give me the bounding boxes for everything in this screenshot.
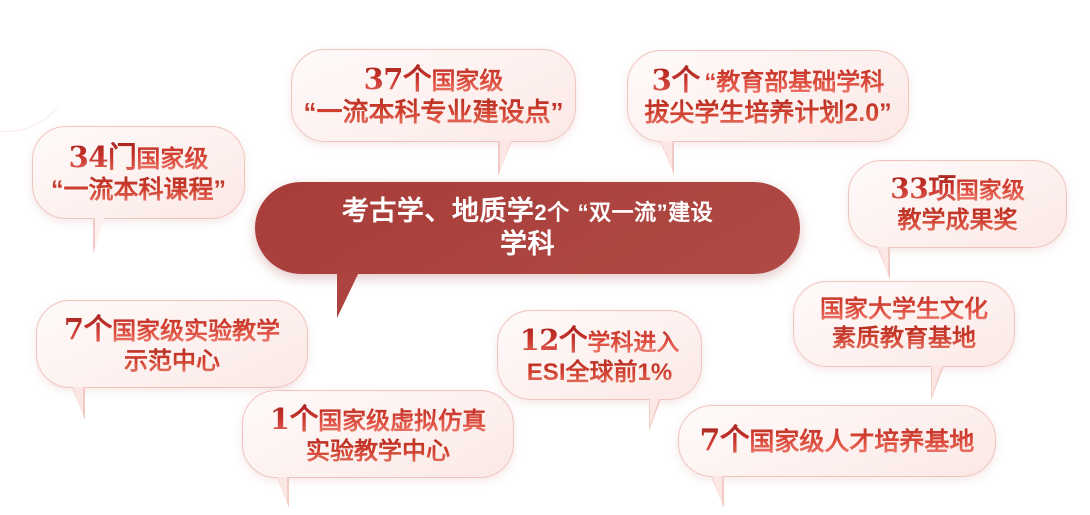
callout-national-first-class-major[interactable]: 37个国家级 “一流本科专业建设点” (291, 49, 576, 142)
callout-line2: “一流本科专业建设点” (304, 97, 564, 127)
callout-virtual-simulation-center[interactable]: 1个国家级虚拟仿真 实验教学中心 (242, 390, 514, 478)
callout-number: 12个 (520, 323, 588, 357)
callout-tail-inner-national-experimental-teaching-center (73, 387, 83, 415)
center-text: 考古学、地质学2个 “双一流”建设 学科 (342, 195, 713, 261)
callout-line2: ESI全球前1% (527, 359, 672, 386)
callout-tail-inner-national-first-class-course (95, 218, 104, 249)
callout-number: 1个 (270, 402, 318, 436)
callout-line2: “一流本科课程” (51, 176, 226, 204)
callout-number: 33项 (890, 172, 955, 205)
callout-label: 国家级人才培养基地 (749, 428, 974, 456)
callout-line2: 实验教学中心 (306, 438, 450, 465)
callout-tail-inner-national-culture-quality-base (932, 366, 942, 395)
callout-label: 国家大学生文化 (820, 296, 988, 323)
callout-line2: 示范中心 (124, 348, 220, 375)
callout-tail-inner-national-talent-base (712, 476, 722, 503)
center-line1-c: “双一流”建设 (578, 200, 714, 225)
center-highlight-bubble[interactable]: 考古学、地质学2个 “双一流”建设 学科 (255, 182, 800, 274)
callout-national-talent-base[interactable]: 7个国家级人才培养基地 (678, 405, 996, 477)
callout-moe-top-student-plan[interactable]: 3个 “教育部基础学科 拔尖学生培养计划2.0” (627, 50, 909, 142)
callout-tail-inner-moe-top-student-plan (661, 141, 672, 170)
callout-line2: 素质教育基地 (832, 325, 976, 352)
callout-text: 37个国家级 “一流本科专业建设点” (304, 62, 564, 129)
callout-text: 7个国家级实验教学 示范中心 (64, 312, 280, 377)
callout-text: 34门国家级 “一流本科课程” (51, 140, 226, 206)
center-bubble-tail (337, 272, 359, 318)
callout-line2: 拔尖学生培养计划2.0” (644, 99, 891, 127)
callout-tail-inner-virtual-simulation-center (278, 477, 287, 503)
callout-number: 37个 (364, 62, 432, 96)
callout-number: 7个 (64, 312, 112, 346)
callout-tail-inner-national-first-class-major (500, 141, 511, 171)
callout-label: “教育部基础学科 (704, 69, 884, 96)
callout-label: 国家级实验教学 (112, 318, 280, 345)
callout-number: 3个 (652, 63, 700, 97)
callout-national-first-class-course[interactable]: 34门国家级 “一流本科课程” (32, 126, 245, 219)
center-line1-a: 考古学、地质学 (342, 196, 535, 226)
callout-number: 7个 (700, 423, 750, 458)
callout-esi-top-one-percent[interactable]: 12个学科进入 ESI全球前1% (497, 310, 702, 400)
infographic-canvas: 34门国家级 “一流本科课程” 37个国家级 “一流本科专业建设点” 3个 “教… (0, 0, 1090, 515)
center-line2: 学科 (500, 229, 555, 259)
callout-text: 12个学科进入 ESI全球前1% (520, 323, 680, 388)
callout-text: 1个国家级虚拟仿真 实验教学中心 (270, 402, 486, 467)
callout-national-culture-quality-base[interactable]: 国家大学生文化 素质教育基地 (793, 281, 1015, 367)
callout-text: 国家大学生文化 素质教育基地 (820, 295, 988, 354)
decorative-arc-right (1005, 0, 1090, 117)
callout-label: 国家级 (431, 68, 503, 95)
callout-line2: 教学成果奖 (898, 207, 1018, 234)
callout-text: 33项国家级 教学成果奖 (890, 172, 1024, 235)
callout-label: 国家级虚拟仿真 (318, 408, 486, 435)
callout-number: 34门 (69, 140, 137, 174)
callout-tail-inner-esi-top-one-percent (650, 399, 659, 426)
callout-national-teaching-award[interactable]: 33项国家级 教学成果奖 (848, 160, 1067, 248)
callout-text: 7个国家级人才培养基地 (700, 423, 975, 460)
callout-text: 3个 “教育部基础学科 拔尖学生培养计划2.0” (644, 63, 891, 129)
center-line1-b: 2个 (534, 200, 569, 225)
callout-label: 国家级 (136, 146, 208, 173)
callout-tail-inner-national-teaching-award (878, 247, 888, 275)
callout-label: 国家级 (956, 177, 1025, 203)
callout-national-experimental-teaching-center[interactable]: 7个国家级实验教学 示范中心 (36, 300, 308, 388)
callout-label: 学科进入 (587, 329, 679, 355)
decorative-arc-left (0, 0, 82, 132)
